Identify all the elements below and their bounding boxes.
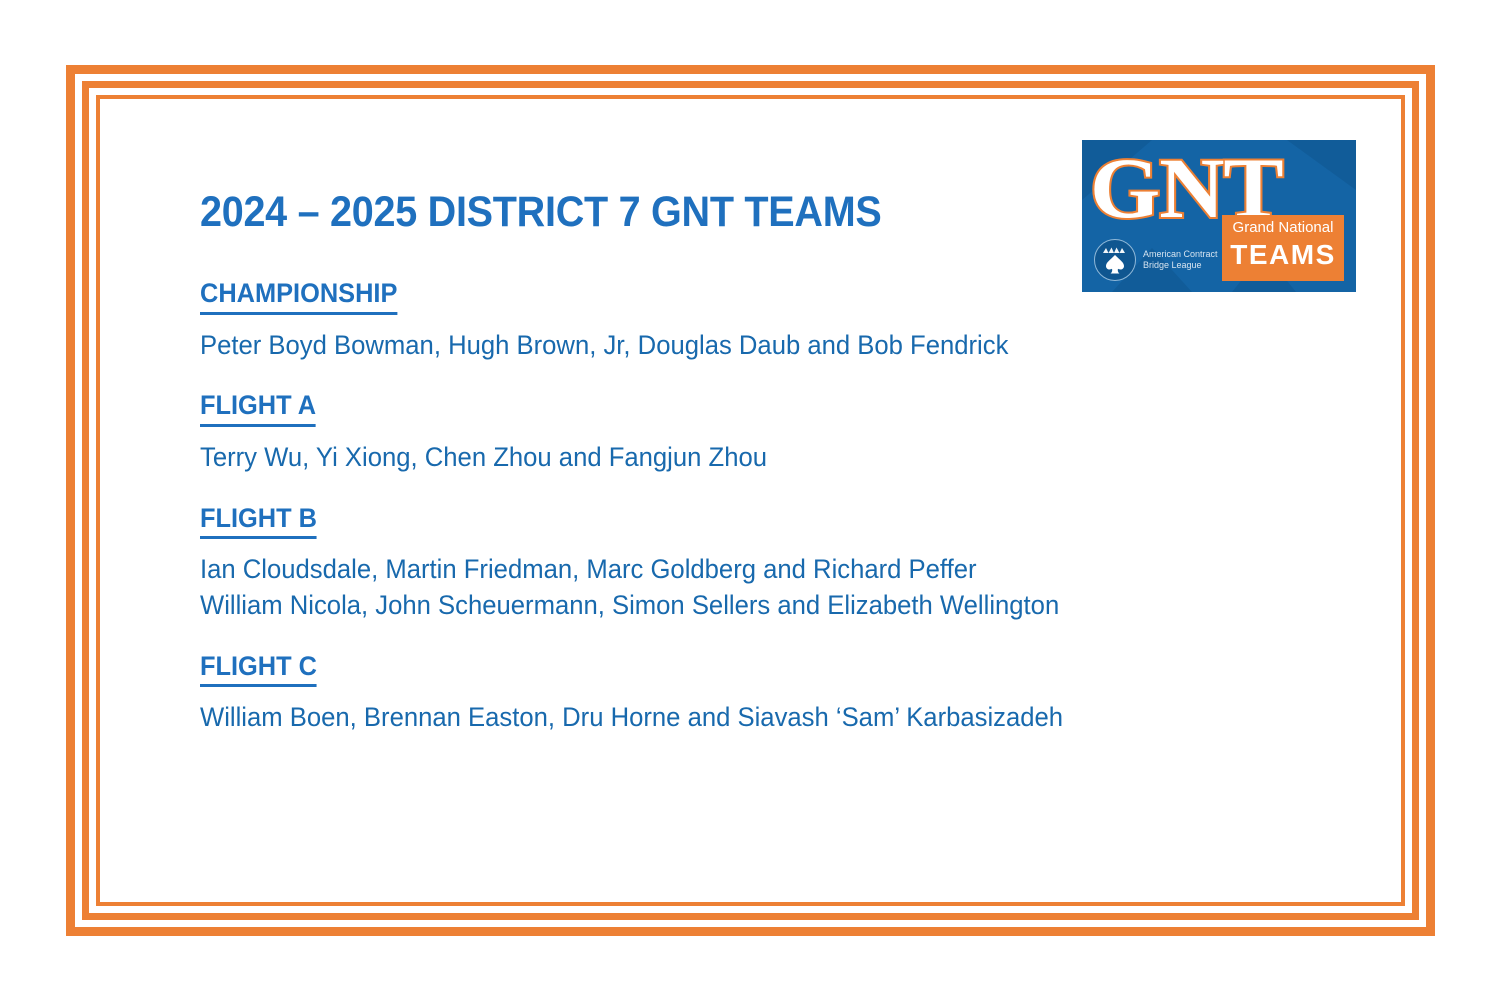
section-flight-a: FLIGHT A Terry Wu, Yi Xiong, Chen Zhou a…: [200, 389, 1360, 475]
team-line: Ian Cloudsdale, Martin Friedman, Marc Go…: [200, 552, 1302, 588]
team-line: William Nicola, John Scheuermann, Simon …: [200, 588, 1302, 624]
acbl-spade-icon: [1094, 239, 1136, 281]
gnt-logo: GNT Grand National TEAMS American Contra…: [1082, 140, 1356, 292]
acbl-logo: American Contract Bridge League: [1094, 236, 1214, 284]
section-heading-championship: CHAMPIONSHIP: [200, 277, 397, 314]
slide-canvas: 2024 – 2025 DISTRICT 7 GNT TEAMS CHAMPIO…: [0, 0, 1500, 1000]
section-heading-flight-c: FLIGHT C: [200, 650, 317, 687]
section-flight-b: FLIGHT B Ian Cloudsdale, Martin Friedman…: [200, 502, 1360, 624]
grand-national-label: Grand National: [1222, 218, 1344, 238]
section-heading-flight-a: FLIGHT A: [200, 389, 316, 426]
section-heading-flight-b: FLIGHT B: [200, 502, 317, 539]
acbl-text: American Contract Bridge League: [1143, 249, 1218, 271]
team-line: William Boen, Brennan Easton, Dru Horne …: [200, 700, 1302, 736]
section-flight-c: FLIGHT C William Boen, Brennan Easton, D…: [200, 650, 1360, 736]
team-line: Terry Wu, Yi Xiong, Chen Zhou and Fangju…: [200, 440, 1302, 476]
teams-label: TEAMS: [1222, 238, 1344, 272]
teams-badge: Grand National TEAMS: [1222, 215, 1344, 281]
acbl-line-2: Bridge League: [1143, 260, 1218, 271]
team-line: Peter Boyd Bowman, Hugh Brown, Jr, Dougl…: [200, 328, 1302, 364]
acbl-line-1: American Contract: [1143, 249, 1218, 260]
